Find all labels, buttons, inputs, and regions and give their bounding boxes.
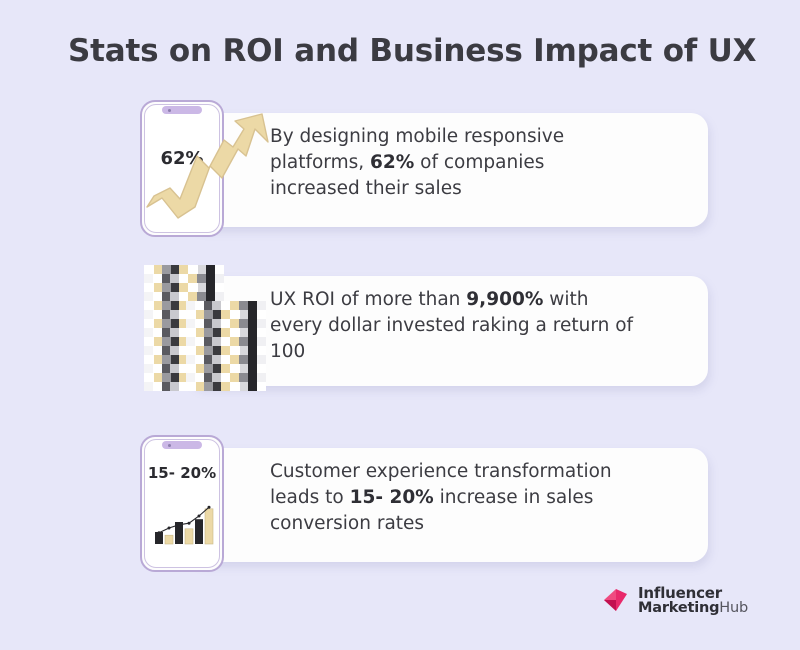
left-arrow-mark-icon	[603, 587, 633, 615]
stat-text-2-part-a: UX ROI of more than	[270, 289, 466, 310]
phone-mockup-1: 62%	[140, 100, 224, 237]
page-title: Stats on ROI and Business Impact of UX	[68, 33, 756, 69]
coin-stacks-icon	[142, 263, 267, 396]
brand-logo-marketing: Marketing	[638, 600, 719, 616]
stat-text-3: Customer experience transformation leads…	[270, 459, 650, 537]
stat-text-2-highlight: 9,900%	[466, 289, 543, 310]
stat-text-1: By designing mobile responsive platforms…	[270, 124, 630, 202]
phone-screen-3	[144, 439, 220, 568]
brand-logo-hub: Hub	[719, 600, 748, 616]
phone-notch-1	[162, 106, 202, 114]
stat-text-2: UX ROI of more than 9,900% with every do…	[270, 287, 640, 365]
stat-text-3-highlight: 15- 20%	[350, 487, 434, 508]
stat-text-1-highlight: 62%	[370, 152, 414, 173]
brand-logo[interactable]: Influencer MarketingHub	[603, 585, 748, 616]
phone-stat-value-3: 15- 20%	[142, 464, 222, 482]
brand-logo-line2: MarketingHub	[638, 601, 748, 616]
brand-logo-text: Influencer MarketingHub	[638, 585, 748, 616]
phone-stat-value-1: 62%	[142, 148, 222, 169]
bar-chart-icon	[153, 492, 220, 548]
phone-notch-3	[162, 441, 202, 449]
brand-logo-line1: Influencer	[638, 586, 748, 601]
phone-mockup-3: 15- 20%	[140, 435, 224, 572]
